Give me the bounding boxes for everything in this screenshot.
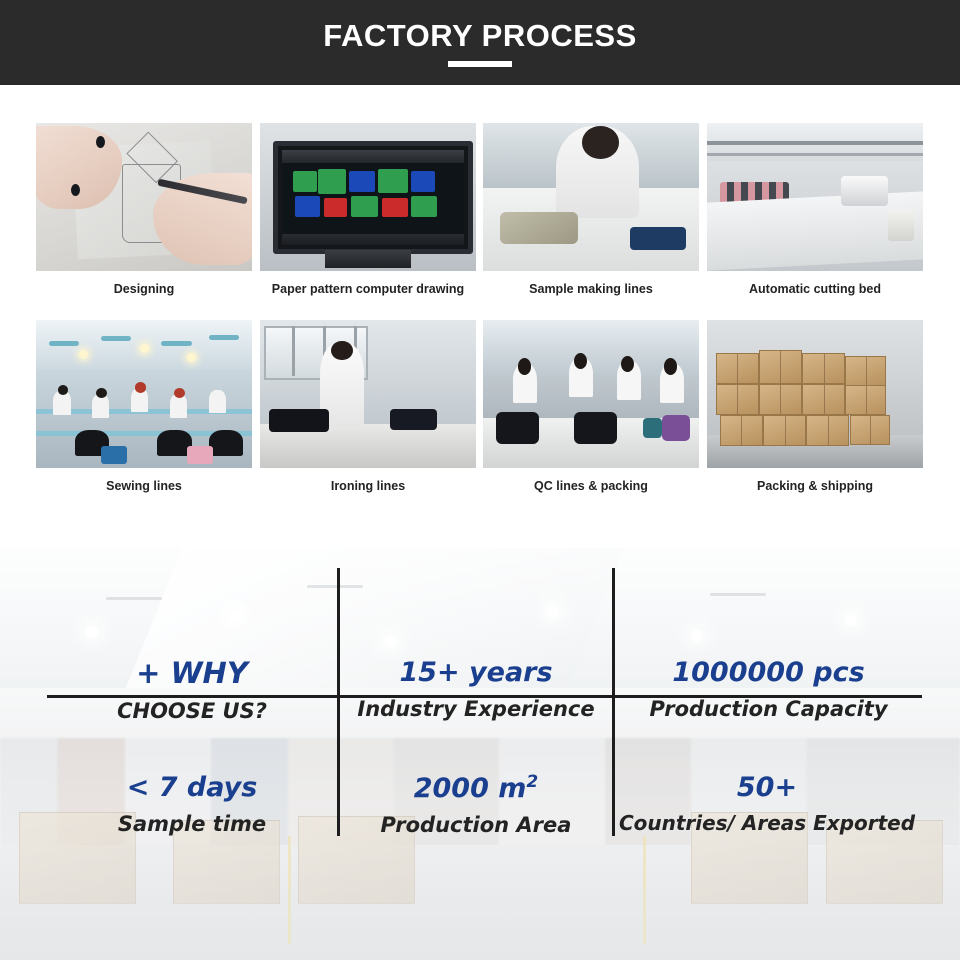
- packing-shipping-photo: [707, 320, 923, 468]
- designing-sketch-photo: [36, 123, 252, 271]
- stat-label: Sample time: [47, 812, 337, 836]
- process-item-sample-making[interactable]: Sample making lines: [483, 123, 699, 296]
- stat-value-superscript: 2: [526, 772, 538, 792]
- stat-label: Countries/ Areas Exported: [612, 812, 922, 835]
- process-caption: QC lines & packing: [483, 479, 699, 493]
- cutting-bed-photo: [707, 123, 923, 271]
- stat-label: Production Capacity: [615, 697, 922, 721]
- stat-value: 15+ years: [340, 658, 612, 688]
- process-caption: Designing: [36, 282, 252, 296]
- stat-production-capacity: 1000000 pcs Production Capacity: [615, 658, 922, 721]
- header-band: FACTORY PROCESS: [0, 0, 960, 85]
- process-item-ironing[interactable]: Ironing lines: [260, 320, 476, 493]
- page-title: FACTORY PROCESS: [0, 18, 960, 54]
- stat-value: 2000 m2: [340, 773, 612, 804]
- process-item-cutting-bed[interactable]: Automatic cutting bed: [707, 123, 923, 296]
- stat-countries-exported: 50+ Countries/ Areas Exported: [612, 773, 922, 835]
- sewing-line-photo: [36, 320, 252, 468]
- stat-label: Production Area: [340, 813, 612, 837]
- title-underline: [448, 61, 512, 67]
- cad-monitor-photo: [260, 123, 476, 271]
- why-choose-us-section: + WHY CHOOSE US? 15+ years Industry Expe…: [0, 548, 960, 960]
- stat-label: Industry Experience: [340, 697, 612, 721]
- process-item-packing-shipping[interactable]: Packing & shipping: [707, 320, 923, 493]
- sample-making-photo: [483, 123, 699, 271]
- stat-industry-experience: 15+ years Industry Experience: [340, 658, 612, 721]
- stat-value-text: 2000 m: [414, 773, 527, 804]
- stat-sample-time: < 7 days Sample time: [47, 773, 337, 836]
- stat-value: + WHY: [47, 658, 337, 690]
- process-caption: Packing & shipping: [707, 479, 923, 493]
- process-caption: Ironing lines: [260, 479, 476, 493]
- factory-background-photo: [0, 548, 960, 960]
- process-item-designing[interactable]: Designing: [36, 123, 252, 296]
- process-caption: Sewing lines: [36, 479, 252, 493]
- stat-label: CHOOSE US?: [47, 699, 337, 723]
- process-item-qc-packing[interactable]: QC lines & packing: [483, 320, 699, 493]
- process-item-sewing[interactable]: Sewing lines: [36, 320, 252, 493]
- stat-production-area: 2000 m2 Production Area: [340, 773, 612, 837]
- process-caption: Paper pattern computer drawing: [260, 282, 476, 296]
- factory-process-page: FACTORY PROCESS Designing: [0, 0, 960, 960]
- ironing-line-photo: [260, 320, 476, 468]
- qc-packing-photo: [483, 320, 699, 468]
- process-grid: Designing: [0, 85, 960, 548]
- process-caption: Sample making lines: [483, 282, 699, 296]
- process-caption: Automatic cutting bed: [707, 282, 923, 296]
- stat-value: 1000000 pcs: [615, 658, 922, 688]
- process-item-paper-pattern[interactable]: Paper pattern computer drawing: [260, 123, 476, 296]
- stat-value: 50+: [612, 773, 922, 803]
- stat-why-choose-us: + WHY CHOOSE US?: [47, 658, 337, 723]
- stat-value: < 7 days: [47, 773, 337, 803]
